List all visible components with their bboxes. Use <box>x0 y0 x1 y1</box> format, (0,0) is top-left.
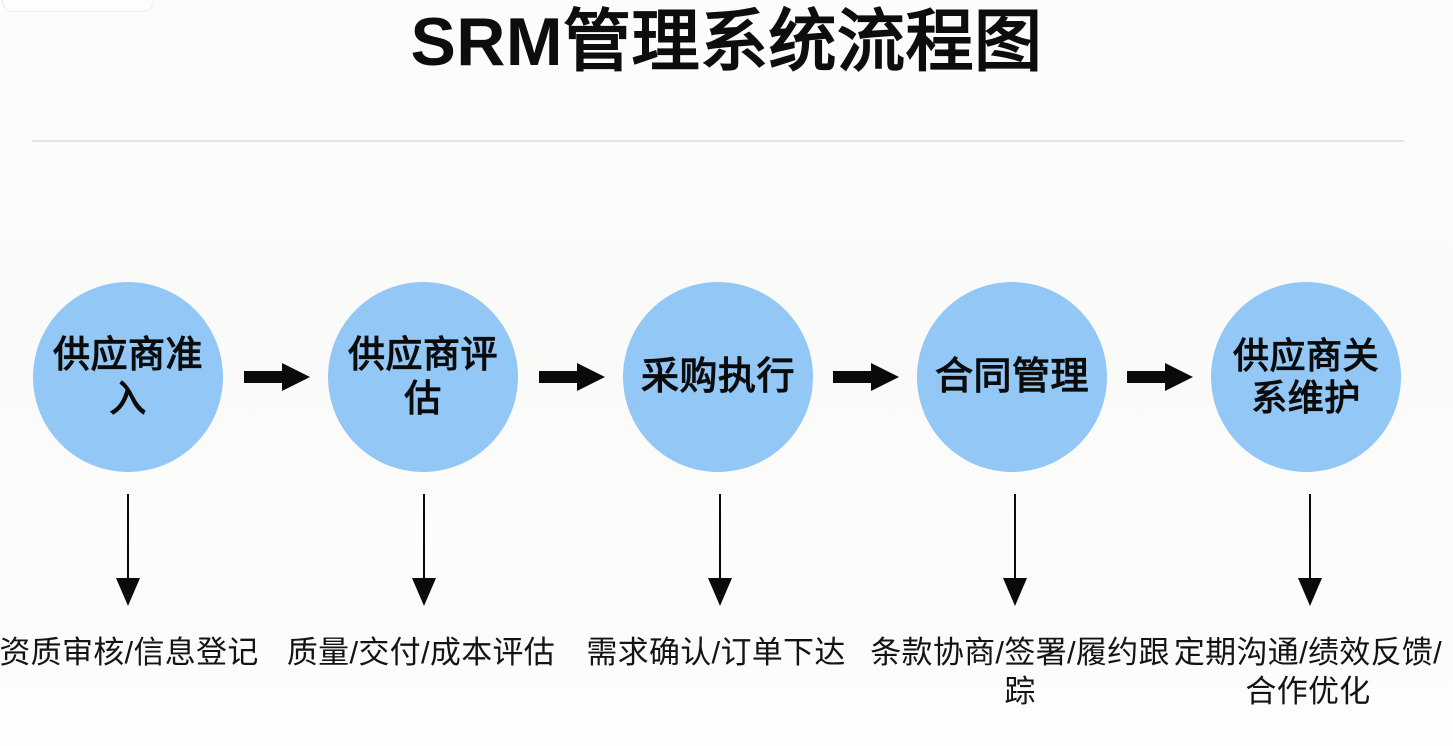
flow-detail-caption: 资质审核/信息登记 <box>0 634 264 673</box>
flow-node-label: 供应商关系维护 <box>1211 335 1401 420</box>
flow-row: 供应商准入 供应商评估 采购执行 <box>0 282 1453 474</box>
flow-node-contract-management[interactable]: 合同管理 <box>917 282 1107 472</box>
flow-detail-caption: 质量/交付/成本评估 <box>286 634 556 673</box>
flow-detail-caption: 定期沟通/绩效反馈/合作优化 <box>1172 634 1444 712</box>
flow-node-purchase-execution[interactable]: 采购执行 <box>623 282 813 472</box>
arrow-right-icon <box>244 362 310 392</box>
arrow-right-icon <box>833 362 899 392</box>
flow-detail-caption: 条款协商/签署/履约跟踪 <box>865 634 1175 712</box>
header-divider <box>32 140 1404 142</box>
arrow-down-icon <box>1293 494 1327 606</box>
flow-detail-caption: 需求确认/订单下达 <box>581 634 851 673</box>
flow-node-supplier-evaluation[interactable]: 供应商评估 <box>328 282 518 472</box>
arrow-right-icon <box>1127 362 1193 392</box>
flow-node-label: 供应商评估 <box>328 333 518 420</box>
flow-node-supplier-relationship[interactable]: 供应商关系维护 <box>1211 282 1401 472</box>
arrow-right-icon <box>539 362 605 392</box>
page-title: SRM管理系统流程图 <box>0 4 1453 80</box>
flow-node-supplier-onboarding[interactable]: 供应商准入 <box>33 282 223 472</box>
arrow-down-icon <box>111 494 145 606</box>
flow-node-label: 合同管理 <box>927 355 1097 400</box>
arrow-down-icon <box>407 494 441 606</box>
flow-node-label: 采购执行 <box>633 355 803 400</box>
arrow-down-icon <box>998 494 1032 606</box>
arrow-down-icon <box>703 494 737 606</box>
flow-node-label: 供应商准入 <box>33 333 223 420</box>
flowchart-canvas: SRM管理系统流程图 供应商准入 供应商评估 采购执行 <box>0 0 1453 746</box>
